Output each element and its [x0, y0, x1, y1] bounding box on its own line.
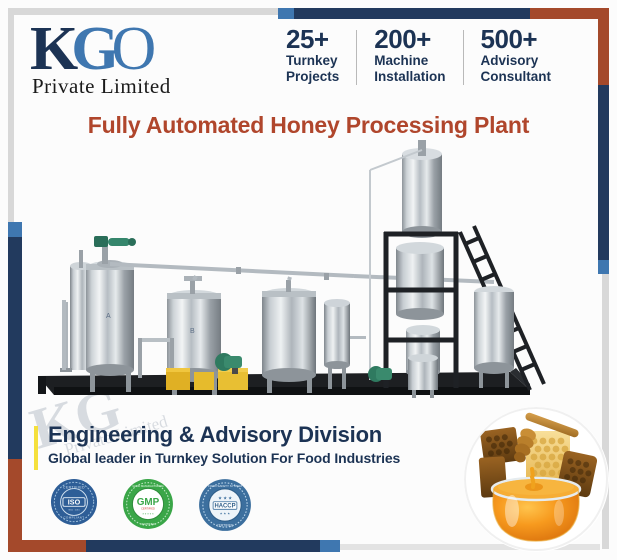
stat-item-machine-installation: 200+ Machine Installation — [357, 26, 462, 85]
frame-bar-right-lightblue — [598, 260, 609, 274]
stat-number: 500+ — [481, 26, 552, 53]
badge-iso: ISO CERTIFIED COMPLIANT 9001 : 2015 — [50, 478, 98, 537]
stat-number: 25+ — [286, 26, 339, 53]
svg-text:GOOD MANUFACTURING: GOOD MANUFACTURING — [132, 484, 163, 488]
plant-illustration-svg: A B — [24, 140, 592, 402]
process-tank-3 — [262, 280, 316, 393]
header: K G O Private Limited 25+ Turnkey Projec… — [22, 14, 593, 110]
honey-processing-plant-image: A B — [24, 140, 592, 402]
frame-bar-right-rust — [598, 8, 609, 85]
process-tower — [370, 140, 458, 398]
svg-text:COMPLIANT: COMPLIANT — [63, 515, 84, 519]
honey-product-image — [464, 407, 609, 552]
honey-jar — [492, 477, 580, 541]
svg-text:9001 : 2015: 9001 : 2015 — [68, 510, 80, 512]
frame-bar-left-navy — [8, 237, 22, 459]
logo-letter-k: K — [30, 18, 75, 80]
badge-gmp: GMP CERTIFIED ★ ★ ★ ★ ★ GOOD MANUFACTURI… — [122, 478, 174, 537]
svg-text:CERTIFIED: CERTIFIED — [216, 524, 234, 528]
svg-text:CERTIFIED: CERTIFIED — [140, 522, 155, 526]
haccp-badge-icon: ★ ★ ★ HACCP ★ ★ ★ FOOD SAFETY SYSTEM CER… — [198, 478, 252, 532]
stat-label-line1: Machine — [374, 53, 445, 69]
gmp-badge-icon: GMP CERTIFIED ★ ★ ★ ★ ★ GOOD MANUFACTURI… — [122, 478, 174, 530]
stat-item-advisory-consultant: 500+ Advisory Consultant — [464, 26, 569, 85]
footer-subheading: Global leader in Turnkey Solution For Fo… — [48, 450, 400, 466]
svg-text:CERTIFIED: CERTIFIED — [63, 486, 85, 490]
stats-strip: 25+ Turnkey Projects 200+ Machine Instal… — [286, 26, 568, 85]
iso-badge-icon: ISO CERTIFIED COMPLIANT 9001 : 2015 — [50, 478, 98, 526]
svg-text:★ ★ ★: ★ ★ ★ — [218, 496, 232, 501]
badge-label: GMP — [137, 497, 160, 508]
logo-subtitle: Private Limited — [30, 74, 230, 99]
footer-accent-bar — [34, 426, 38, 470]
badge-label: HACCP — [214, 504, 235, 510]
stat-label-line1: Turnkey — [286, 53, 339, 69]
frame-bar-left-rust — [8, 459, 22, 552]
footer-heading: Engineering & Advisory Division — [48, 422, 382, 448]
frame-bar-bottom-navy — [86, 540, 320, 552]
stat-label-line2: Installation — [374, 69, 445, 85]
badge-label: ISO — [68, 497, 81, 506]
logo-letter-g: G — [71, 18, 113, 80]
certification-badges: ISO CERTIFIED COMPLIANT 9001 : 2015 GMP … — [50, 478, 252, 537]
svg-text:A: A — [106, 313, 111, 320]
stat-item-turnkey-projects: 25+ Turnkey Projects — [286, 26, 356, 85]
process-tank-right — [474, 286, 514, 388]
page-title: Fully Automated Honey Processing Plant — [0, 112, 617, 139]
frame-bar-left-lightblue — [8, 222, 22, 237]
frame-bar-bottom-lightblue — [320, 540, 340, 552]
stat-label-line1: Advisory — [481, 53, 552, 69]
svg-text:CERTIFIED: CERTIFIED — [141, 507, 155, 511]
poster-canvas: K G O Private Limited 25+ Turnkey Projec… — [0, 0, 617, 560]
stat-label-line2: Consultant — [481, 69, 552, 85]
stat-label-line2: Projects — [286, 69, 339, 85]
svg-text:★ ★ ★: ★ ★ ★ — [220, 512, 231, 516]
pump-unit-tower — [368, 366, 392, 382]
process-tank-1: A — [86, 236, 136, 392]
svg-text:FOOD SAFETY SYSTEM: FOOD SAFETY SYSTEM — [208, 484, 242, 488]
badge-haccp: ★ ★ ★ HACCP ★ ★ ★ FOOD SAFETY SYSTEM CER… — [198, 478, 252, 537]
logo-mark: K G O — [30, 18, 230, 80]
brand-logo[interactable]: K G O Private Limited — [22, 14, 230, 99]
honey-jar-illustration — [464, 407, 609, 552]
frame-bar-bottom-rust — [8, 540, 86, 552]
stat-number: 200+ — [374, 26, 445, 53]
logo-letter-o: O — [111, 18, 156, 80]
svg-text:B: B — [190, 328, 195, 335]
